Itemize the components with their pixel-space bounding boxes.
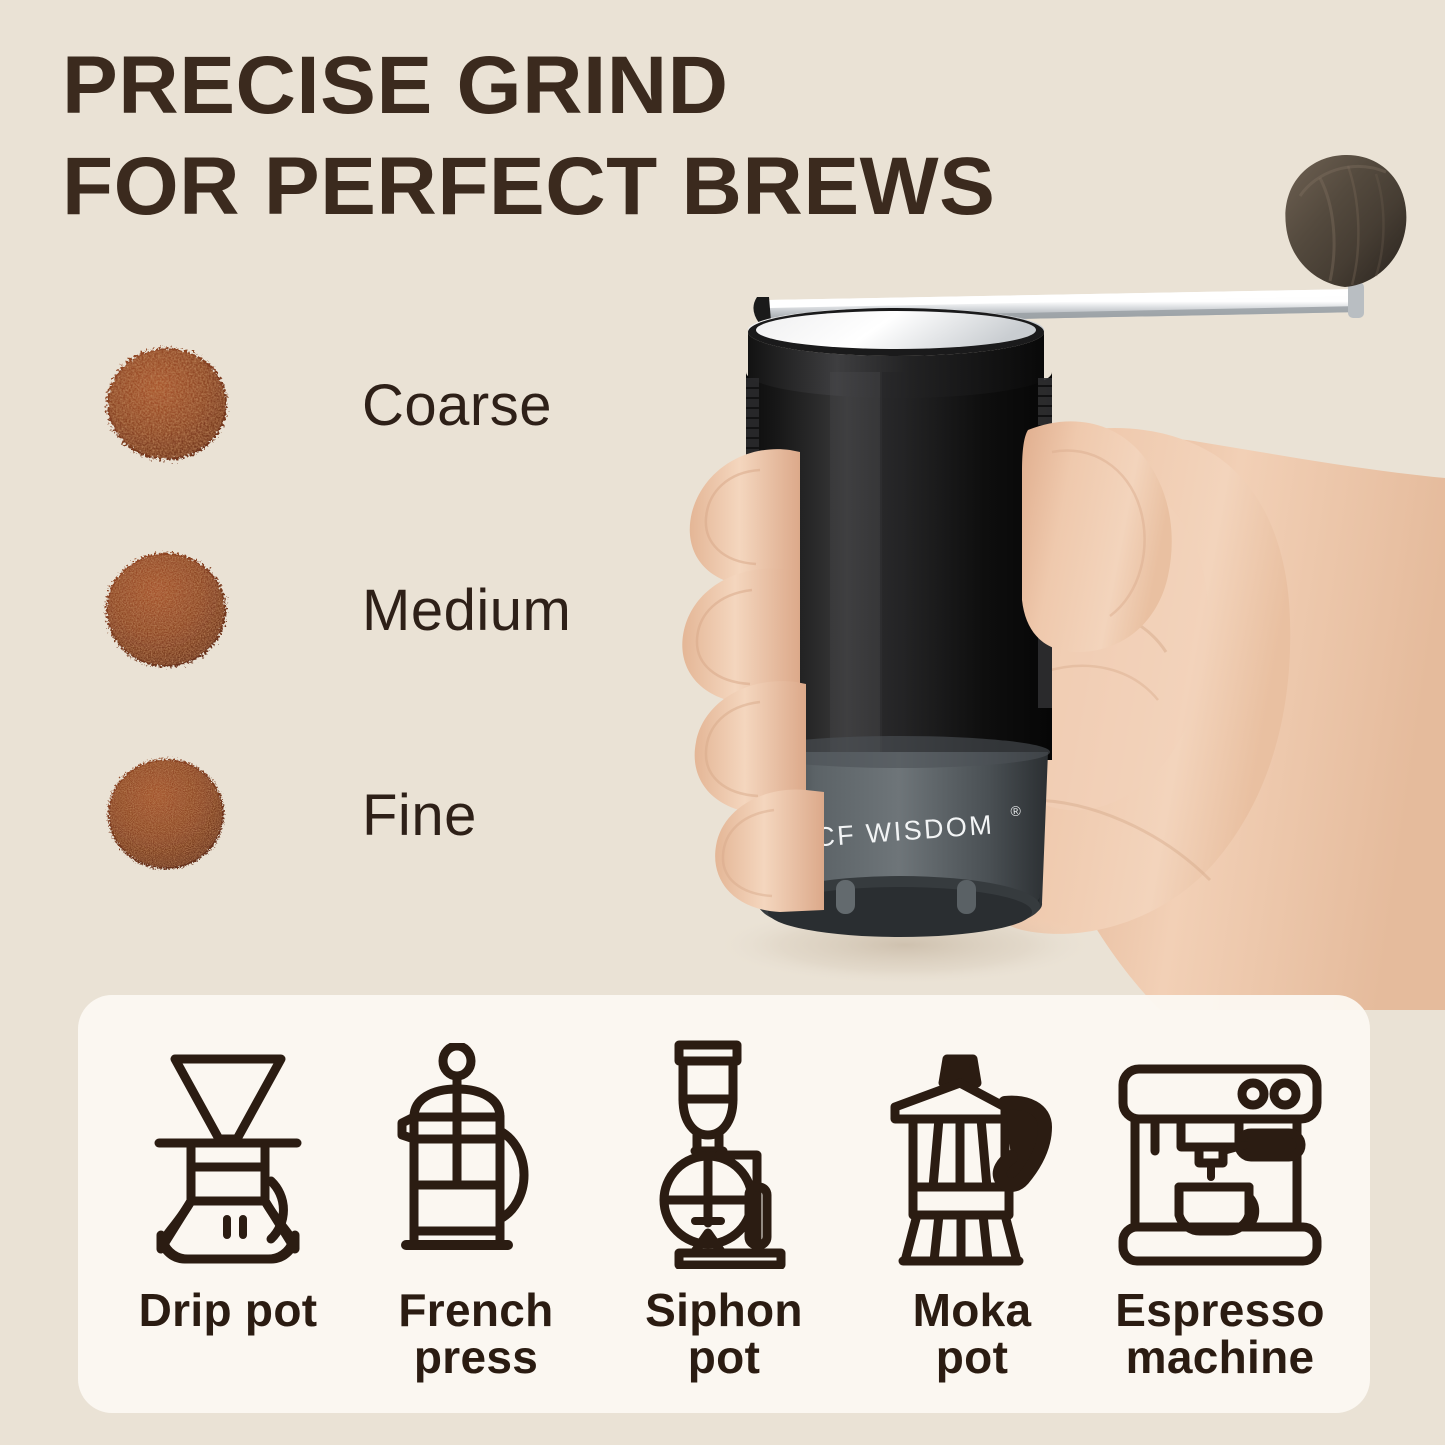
french-press-icon	[386, 1037, 566, 1269]
forearm	[1024, 438, 1445, 1010]
grinder-body	[746, 372, 1052, 760]
label-line-2: pot	[688, 1331, 760, 1383]
grinder-top-disc	[748, 308, 1044, 352]
label-line-1: Siphon	[645, 1284, 803, 1336]
brew-method-label: Drip pot	[139, 1287, 318, 1334]
label-line-1: French	[398, 1284, 553, 1336]
brand-mark: CF WISDOM ®	[814, 802, 1024, 852]
brew-method-french-press[interactable]: French press	[362, 1037, 590, 1382]
grind-pile-medium	[82, 535, 252, 685]
page-title: PRECISE GRIND FOR PERFECT BREWS	[62, 36, 1041, 238]
headline-line-2: FOR PERFECT BREWS	[62, 137, 1041, 238]
label-line-2: pot	[936, 1331, 1008, 1383]
grind-pile-fine	[82, 740, 252, 890]
grind-label-fine: Fine	[362, 782, 477, 849]
brew-method-espresso-machine[interactable]: Espresso machine	[1106, 1037, 1334, 1382]
brew-methods-card: Drip pot	[78, 995, 1370, 1413]
drip-pot-icon	[133, 1037, 323, 1269]
brand-text: CF WISDOM	[814, 809, 995, 852]
headline-line-1: PRECISE GRIND	[62, 36, 1041, 137]
label-line-2: machine	[1126, 1331, 1315, 1383]
brew-method-moka-pot[interactable]: Moka pot	[858, 1037, 1086, 1382]
base-tab-right	[957, 880, 976, 914]
grinder-cap	[748, 308, 1044, 419]
brew-methods-list: Drip pot	[78, 995, 1370, 1413]
grind-pile-coarse	[82, 330, 252, 480]
brew-method-drip-pot[interactable]: Drip pot	[114, 1037, 342, 1334]
label-line-1: Espresso	[1115, 1284, 1325, 1336]
label-line-1: Drip pot	[139, 1284, 318, 1336]
grind-row-medium: Medium	[82, 535, 571, 685]
grind-row-coarse: Coarse	[82, 330, 552, 480]
grind-label-coarse: Coarse	[362, 372, 552, 439]
product-infographic: PRECISE GRIND FOR PERFECT BREWS	[0, 0, 1445, 1445]
moka-pot-icon	[877, 1037, 1067, 1269]
brew-method-label: French press	[398, 1287, 553, 1382]
grinder-base: CF WISDOM ®	[750, 736, 1050, 937]
siphon-pot-icon	[639, 1037, 809, 1269]
espresso-machine-icon	[1115, 1037, 1325, 1269]
grind-label-medium: Medium	[362, 577, 571, 644]
grind-row-fine: Fine	[82, 740, 477, 890]
brew-method-siphon-pot[interactable]: Siphon pot	[610, 1037, 838, 1382]
thumb	[1022, 421, 1172, 652]
brew-method-label: Moka pot	[913, 1287, 1032, 1382]
brew-method-label: Siphon pot	[645, 1287, 803, 1382]
palm	[988, 428, 1290, 934]
label-line-1: Moka	[913, 1284, 1032, 1336]
label-line-2: press	[414, 1331, 538, 1383]
fingers	[682, 449, 824, 912]
crank-handle	[753, 282, 1364, 324]
base-tab-left	[836, 880, 855, 914]
brand-trademark: ®	[1010, 802, 1022, 819]
brew-method-label: Espresso machine	[1115, 1287, 1325, 1382]
crank-knob	[1285, 155, 1406, 287]
